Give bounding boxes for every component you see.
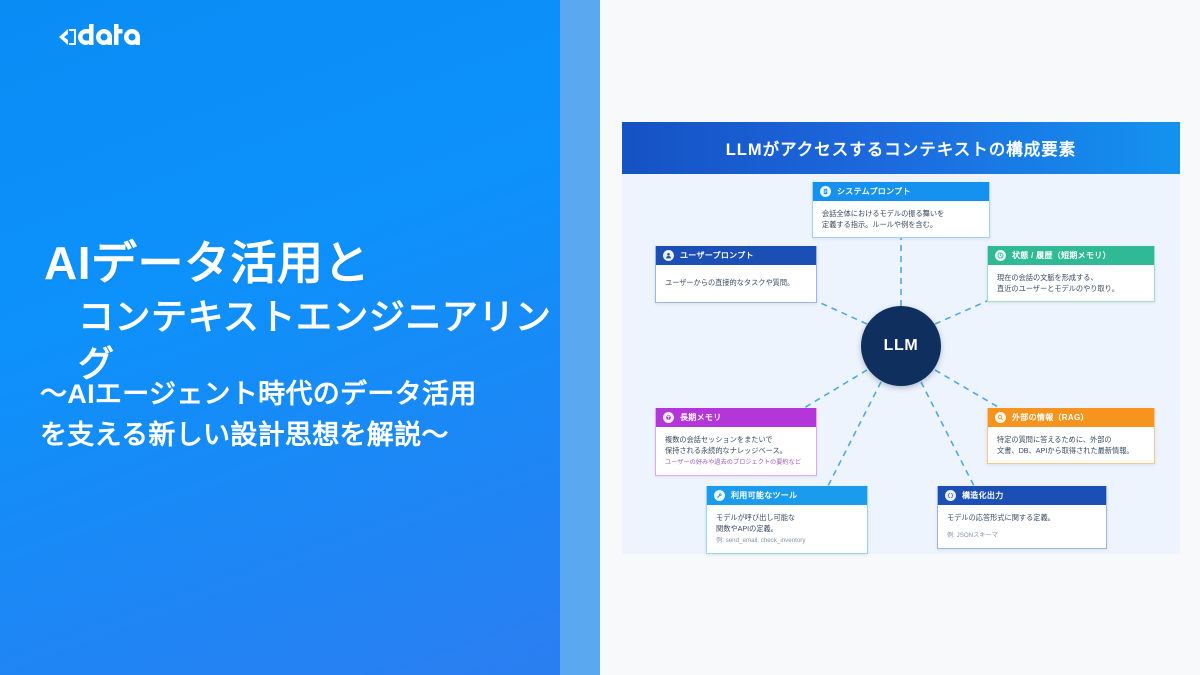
node-state-history[interactable]: 状態 / 履歴（短期メモリ） 現在の会話の文脈を形成する、 直近のユーザーとモデ… — [987, 246, 1155, 302]
node-user-prompt-header: ユーザープロンプト — [656, 246, 816, 265]
node-text-line: ユーザーからの直接的なタスクや質問。 — [665, 277, 808, 288]
node-text-line: 複数の会話セッションをまたいで — [665, 434, 808, 445]
node-system-prompt-body: 会話全体におけるモデルの振る舞いを 定義する指示。ルールや例を含む。 — [813, 201, 989, 237]
node-state-history-title: 状態 / 履歴（短期メモリ） — [1012, 250, 1111, 261]
node-user-prompt-body: ユーザーからの直接的なタスクや質問。 — [656, 265, 816, 302]
clock-icon — [995, 250, 1006, 261]
node-text-line: 定義する指示。ルールや例を含む。 — [822, 219, 981, 230]
node-text-note: ユーザーの好みや過去のプロジェクトの要約など — [665, 458, 808, 468]
llm-center-node: LLM — [861, 306, 941, 386]
node-text-note: 例: send_email, check_inventory — [716, 536, 859, 546]
subtitle-line-1: 〜AIエージェント時代のデータ活用 — [40, 374, 570, 415]
node-state-history-header: 状態 / 履歴（短期メモリ） — [988, 246, 1154, 265]
node-available-tools-header: 利用可能なツール — [707, 486, 867, 505]
diagram-body: LLM システムプロンプト 会話全体におけるモデルの振る舞いを 定義する指示。ル… — [622, 174, 1180, 554]
page-subtitle: 〜AIエージェント時代のデータ活用 を支える新しい設計思想を解説〜 — [40, 374, 570, 455]
braces-icon — [945, 490, 956, 501]
node-external-info-rag-header: 外部の情報（RAG） — [988, 408, 1154, 427]
node-text-line: 関数やAPIの定義。 — [716, 523, 859, 534]
node-text-line: 保持される永続的なナレッジベース。 — [665, 445, 808, 456]
search-icon — [995, 412, 1006, 423]
node-user-prompt[interactable]: ユーザープロンプト ユーザーからの直接的なタスクや質問。 — [655, 246, 817, 303]
node-system-prompt-header: システムプロンプト — [813, 182, 989, 201]
wrench-icon — [714, 490, 725, 501]
node-text-note: 例: JSONスキーマ — [947, 531, 1098, 541]
node-text-line: 直近のユーザーとモデルのやり取り。 — [997, 283, 1146, 294]
subtitle-line-2: を支える新しい設計思想を解説〜 — [40, 415, 570, 456]
node-available-tools-title: 利用可能なツール — [731, 490, 797, 501]
node-system-prompt-title: システムプロンプト — [837, 186, 911, 197]
slide-root: AIデータ活用と コンテキストエンジニアリング 〜AIエージェント時代のデータ活… — [0, 0, 1200, 675]
node-text-line: 文書、DB、APIから取得された最新情報。 — [997, 445, 1146, 456]
node-available-tools-body: モデルが呼び出し可能な 関数やAPIの定義。 例: send_email, ch… — [707, 505, 867, 553]
accent-strip — [560, 0, 600, 675]
node-long-term-memory-body: 複数の会話セッションをまたいで 保持される永続的なナレッジベース。 ユーザーの好… — [656, 427, 816, 475]
diagram-header: LLMがアクセスするコンテキストの構成要素 — [622, 122, 1180, 174]
title-panel: AIデータ活用と コンテキストエンジニアリング 〜AIエージェント時代のデータ活… — [0, 0, 560, 675]
node-structured-output-title: 構造化出力 — [962, 490, 1004, 501]
node-long-term-memory-title: 長期メモリ — [680, 412, 722, 423]
node-external-info-rag-title: 外部の情報（RAG） — [1012, 412, 1089, 423]
node-structured-output-header: 構造化出力 — [938, 486, 1106, 505]
llm-label: LLM — [884, 337, 919, 355]
node-text-line: モデルの応答形式に関する定義。 — [947, 512, 1098, 523]
cdata-logo — [58, 22, 146, 52]
node-text-line: 現在の会話の文脈を形成する、 — [997, 272, 1146, 283]
node-text-line: 会話全体におけるモデルの振る舞いを — [822, 208, 981, 219]
node-state-history-body: 現在の会話の文脈を形成する、 直近のユーザーとモデルのやり取り。 — [988, 265, 1154, 301]
node-system-prompt[interactable]: システムプロンプト 会話全体におけるモデルの振る舞いを 定義する指示。ルールや例… — [812, 182, 990, 238]
node-available-tools[interactable]: 利用可能なツール モデルが呼び出し可能な 関数やAPIの定義。 例: send_… — [706, 486, 868, 554]
page-title: AIデータ活用と コンテキストエンジニアリング — [44, 236, 564, 388]
document-icon — [820, 186, 831, 197]
llm-context-diagram: LLMがアクセスするコンテキストの構成要素 LLM — [622, 122, 1180, 554]
node-external-info-rag[interactable]: 外部の情報（RAG） 特定の質問に答えるために、外部の 文書、DB、APIから取… — [987, 408, 1155, 464]
content-panel: LLMがアクセスするコンテキストの構成要素 LLM — [600, 0, 1200, 675]
brain-icon — [663, 412, 674, 423]
node-external-info-rag-body: 特定の質問に答えるために、外部の 文書、DB、APIから取得された最新情報。 — [988, 427, 1154, 463]
diagram-title: LLMがアクセスするコンテキストの構成要素 — [726, 136, 1077, 160]
node-long-term-memory-header: 長期メモリ — [656, 408, 816, 427]
node-structured-output[interactable]: 構造化出力 モデルの応答形式に関する定義。 例: JSONスキーマ — [937, 486, 1107, 549]
node-long-term-memory[interactable]: 長期メモリ 複数の会話セッションをまたいで 保持される永続的なナレッジベース。 … — [655, 408, 817, 476]
user-icon — [663, 250, 674, 261]
node-text-line: 特定の質問に答えるために、外部の — [997, 434, 1146, 445]
node-user-prompt-title: ユーザープロンプト — [680, 250, 754, 261]
node-text-line: モデルが呼び出し可能な — [716, 512, 859, 523]
title-line-1: AIデータ活用と — [44, 236, 564, 290]
node-structured-output-body: モデルの応答形式に関する定義。 例: JSONスキーマ — [938, 505, 1106, 548]
